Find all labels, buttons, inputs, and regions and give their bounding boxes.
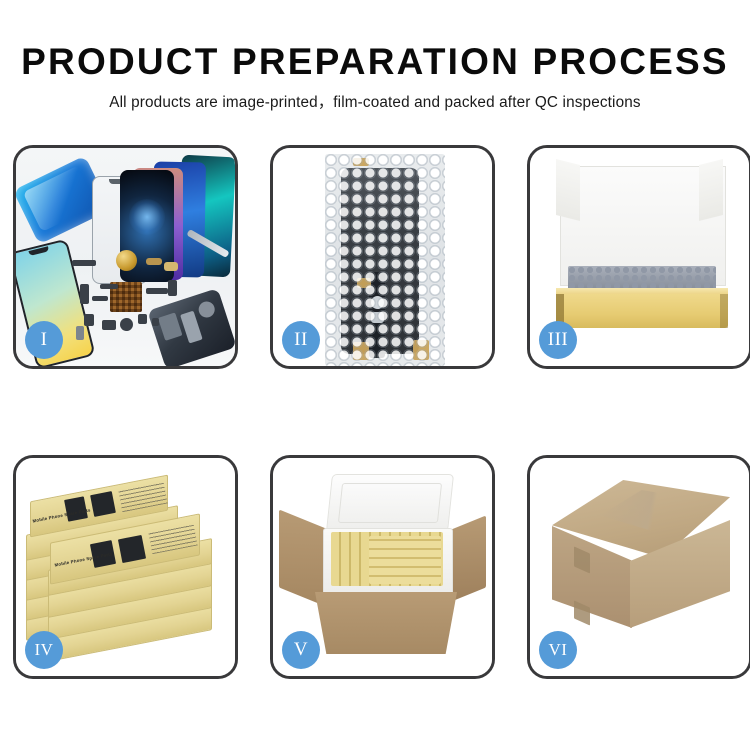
part-side-key: [76, 326, 84, 340]
step-1-badge: I: [25, 321, 63, 359]
part-gold-bracket: [164, 262, 178, 271]
bubble-wrap-texture: [325, 154, 445, 366]
part-camera-module: [102, 320, 116, 330]
part-flex-cable: [80, 284, 89, 304]
process-step-2[interactable]: II: [270, 145, 495, 369]
part-ribbon-cable: [146, 288, 168, 294]
carton-front-panel: [315, 592, 457, 654]
part-screw-set: [152, 318, 159, 326]
part-antenna-strip: [100, 284, 118, 289]
box-print-window-a2: [90, 491, 116, 517]
box-lid-right-flap: [699, 159, 723, 221]
page-title: PRODUCT PREPARATION PROCESS: [0, 0, 750, 83]
part-small-strip: [92, 296, 108, 301]
box-lid-left-flap: [556, 159, 580, 221]
yellow-box-front-panel: [556, 294, 728, 328]
part-gold-connector: [146, 258, 162, 265]
step-5-badge: V: [282, 631, 320, 669]
step-3-badge: III: [539, 321, 577, 359]
step-6-badge: VI: [539, 631, 577, 669]
part-vibration-motor: [120, 318, 133, 331]
part-bracket: [168, 280, 177, 296]
part-sim-tray: [84, 314, 94, 326]
step-2-badge: II: [282, 321, 320, 359]
process-step-4[interactable]: Mobile Phone Spare Parts Mobile Phone Sp…: [13, 455, 238, 679]
part-button: [138, 314, 147, 324]
page-subtitle: All products are image-printed，film-coat…: [0, 83, 750, 112]
page-header: PRODUCT PREPARATION PROCESS All products…: [0, 0, 750, 112]
foam-lid: [326, 474, 454, 532]
process-step-grid: I II III: [13, 145, 737, 679]
phone-back-housing: [147, 288, 235, 366]
speaker-component: [116, 250, 137, 271]
box-stack: Mobile Phone Spare Parts Mobile Phone Sp…: [22, 480, 228, 658]
process-step-5[interactable]: V: [270, 455, 495, 679]
part-battery-strip: [72, 260, 96, 266]
box-print-window-b2: [118, 535, 146, 563]
process-step-6[interactable]: VI: [527, 455, 750, 679]
yellow-boxes-row-right: [369, 536, 441, 584]
process-step-3[interactable]: III: [527, 145, 750, 369]
process-step-1[interactable]: I: [13, 145, 238, 369]
step-4-badge: IV: [25, 631, 63, 669]
